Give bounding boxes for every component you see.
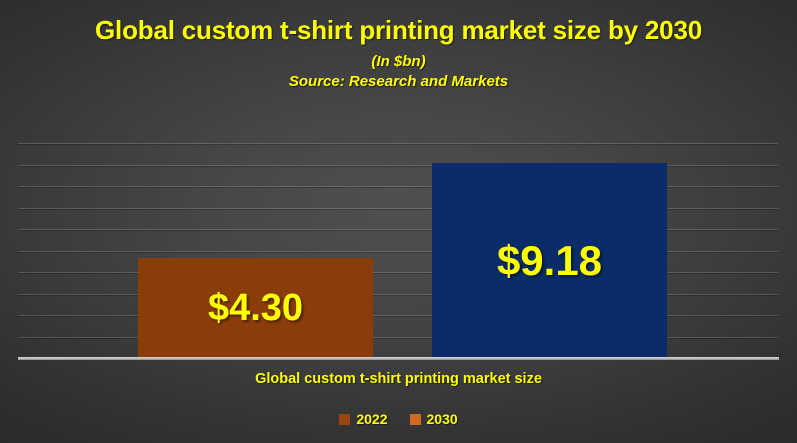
chart-title: Global custom t-shirt printing market si… xyxy=(0,14,797,48)
bar-2022-value-label: $4.30 xyxy=(208,287,303,330)
chart-source: Source: Research and Markets xyxy=(0,73,797,90)
legend: 2022 2030 xyxy=(0,411,797,427)
bar-2022[interactable]: $4.30 xyxy=(138,258,373,359)
bar-2030[interactable]: $9.18 xyxy=(432,163,667,359)
legend-label-2030: 2030 xyxy=(427,411,458,427)
legend-swatch-icon xyxy=(339,414,350,425)
legend-label-2022: 2022 xyxy=(356,411,387,427)
chart-subtitle: (In $bn) xyxy=(0,53,797,70)
legend-item-2030[interactable]: 2030 xyxy=(410,411,458,427)
legend-swatch-icon xyxy=(410,414,421,425)
title-block: Global custom t-shirt printing market si… xyxy=(0,0,797,90)
x-axis-line xyxy=(18,357,779,360)
chart-container: Global custom t-shirt printing market si… xyxy=(0,0,797,443)
bar-2030-value-label: $9.18 xyxy=(497,237,602,285)
plot-area: $4.30 $9.18 xyxy=(18,143,778,359)
x-axis-label: Global custom t-shirt printing market si… xyxy=(0,371,797,387)
legend-item-2022[interactable]: 2022 xyxy=(339,411,387,427)
gridline xyxy=(18,143,778,144)
